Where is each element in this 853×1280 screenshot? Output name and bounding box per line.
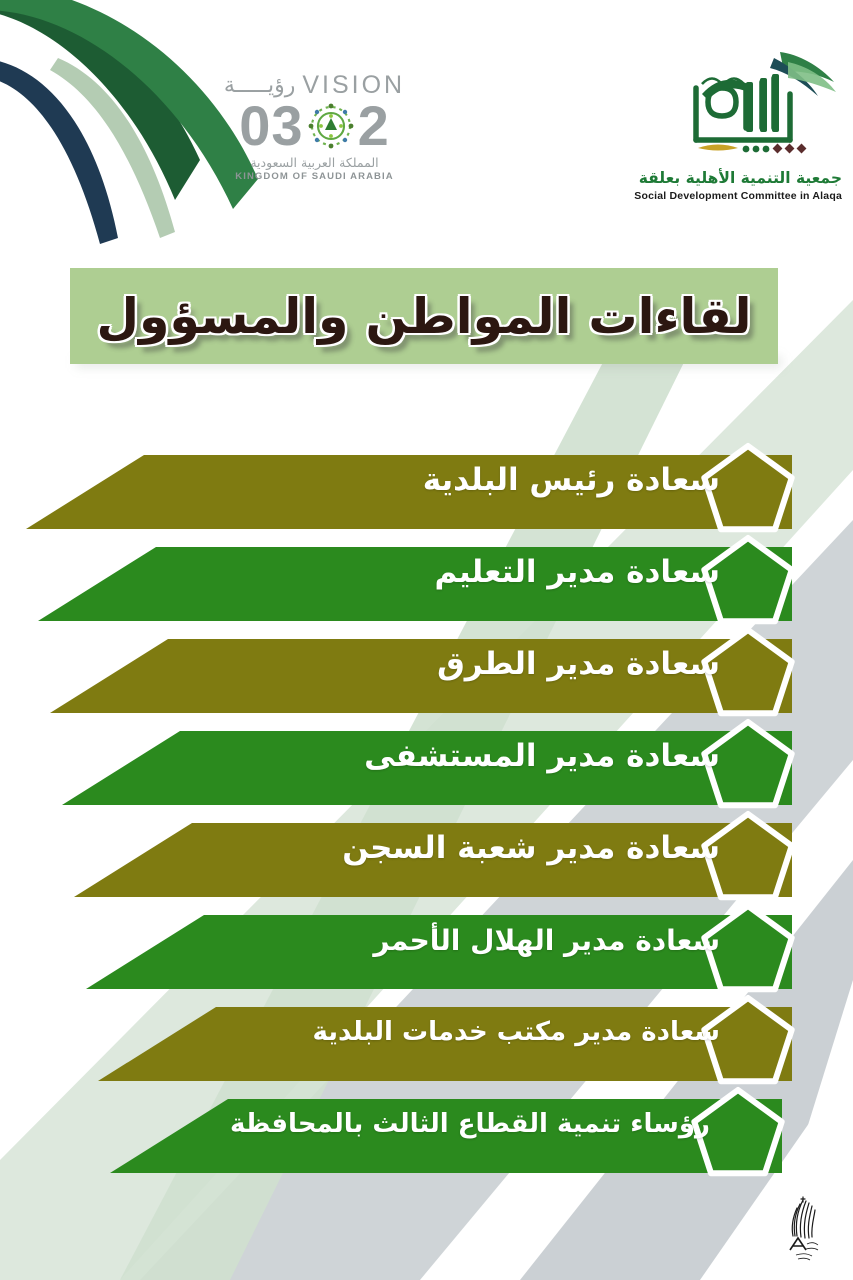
vision-subtitle-ar: المملكة العربية السعودية (222, 155, 407, 170)
row-label: سعادة مدير الطرق (168, 627, 720, 701)
row-label: سعادة مدير الهلال الأحمر (204, 903, 720, 977)
alaqa-calligraphy-mark-icon (662, 48, 842, 168)
official-row[interactable]: سعادة مدير المستشفى (62, 719, 852, 793)
row-label: سعادة مدير المستشفى (180, 719, 720, 793)
official-row[interactable]: سعادة رئيس البلدية (26, 443, 852, 517)
official-row[interactable]: سعادة مدير شعبة السجن (74, 811, 852, 885)
row-label: سعادة رئيس البلدية (144, 443, 720, 517)
vision-year: 2 (222, 98, 407, 154)
row-label: سعادة مدير شعبة السجن (192, 811, 720, 885)
row-label: سعادة مدير مكتب خدمات البلدية (216, 995, 720, 1069)
page-title: لقاءات المواطن والمسؤول (70, 268, 778, 364)
saudi-vision-emblem-icon (305, 100, 357, 152)
association-name-ar: جمعية التنمية الأهلية بعلقة (662, 169, 842, 187)
vision-digit-0: 0 (239, 98, 271, 154)
official-row[interactable]: سعادة مدير الهلال الأحمر (86, 903, 852, 977)
row-label: رؤساء تنمية القطاع الثالث بالمحافظة (228, 1087, 710, 1161)
association-name-en: Social Development Committee in Alaqa (662, 190, 842, 202)
poster-canvas: VISION رؤيـــــة 2 (0, 0, 853, 1280)
official-row[interactable]: رؤساء تنمية القطاع الثالث بالمحافظة (110, 1087, 842, 1161)
official-row[interactable]: سعادة مدير مكتب خدمات البلدية (98, 995, 852, 1069)
designer-signature-watermark-icon (772, 1194, 834, 1266)
official-row[interactable]: سعادة مدير الطرق (50, 627, 852, 701)
vision-digit-2: 2 (358, 98, 390, 154)
vision-digit-3: 3 (271, 98, 303, 154)
row-label: سعادة مدير التعليم (156, 535, 720, 609)
official-row[interactable]: سعادة مدير التعليم (38, 535, 852, 609)
vision-subtitle-en: KINGDOM OF SAUDI ARABIA (222, 171, 407, 182)
vision-2030-logo: VISION رؤيـــــة 2 (222, 70, 407, 195)
association-logo: جمعية التنمية الأهلية بعلقة Social Devel… (662, 48, 842, 213)
